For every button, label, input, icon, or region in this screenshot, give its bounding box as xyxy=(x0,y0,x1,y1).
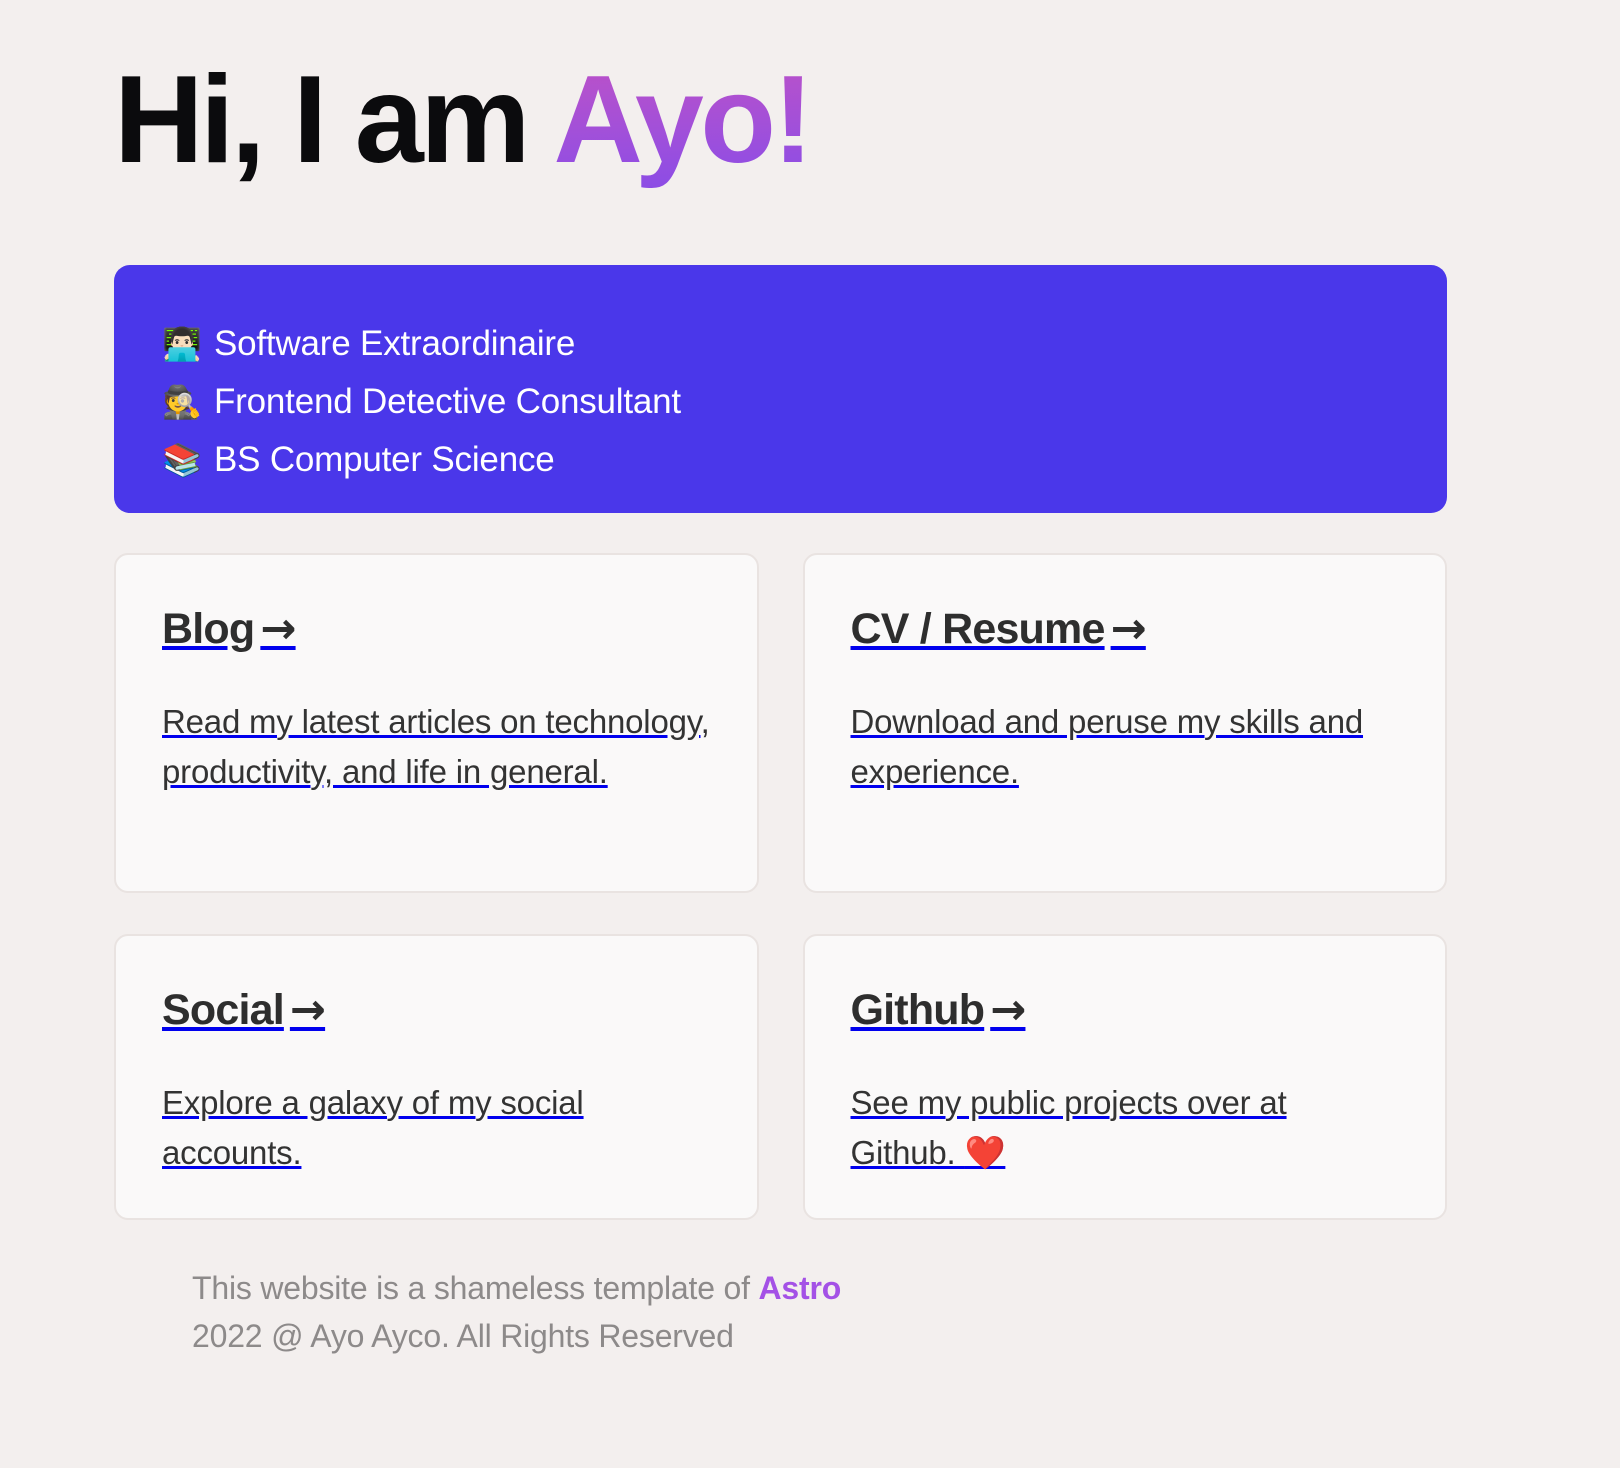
astro-link[interactable]: Astro xyxy=(758,1270,841,1306)
footer-credit-line: This website is a shameless template of … xyxy=(192,1264,1620,1312)
card-description: See my public projects over at Github. ❤… xyxy=(851,1078,1400,1178)
arrow-right-icon: → xyxy=(254,604,295,654)
arrow-right-icon: → xyxy=(284,985,325,1035)
list-item: 👨🏻‍💻 Software Extraordinaire xyxy=(162,315,1447,373)
card-title-label: CV / Resume xyxy=(851,605,1105,653)
card-title-label: Social xyxy=(162,986,284,1034)
list-item: 🕵️ Frontend Detective Consultant xyxy=(162,373,1447,431)
card-title-label: Blog xyxy=(162,605,254,653)
card-trailing-emoji: ❤️ xyxy=(964,1133,1005,1172)
intro-item-label: Software Extraordinaire xyxy=(214,315,575,373)
link-card-grid: Blog→ Read my latest articles on technol… xyxy=(114,553,1447,1219)
site-footer: This website is a shameless template of … xyxy=(192,1264,1620,1360)
arrow-right-icon: → xyxy=(984,985,1025,1035)
card-description-text: Download and peruse my skills and experi… xyxy=(851,703,1364,790)
hero-name-accent: Ayo! xyxy=(553,51,810,189)
books-icon: 📚 xyxy=(162,444,200,476)
card-description: Explore a galaxy of my social accounts. xyxy=(162,1078,711,1178)
card-blog[interactable]: Blog→ Read my latest articles on technol… xyxy=(114,553,759,893)
arrow-right-icon: → xyxy=(1105,604,1146,654)
hero-section: Hi, I am Ayo! xyxy=(0,0,1620,188)
intro-item-label: BS Computer Science xyxy=(214,431,555,489)
card-description-text: Explore a galaxy of my social accounts. xyxy=(162,1084,584,1171)
card-title: Github→ xyxy=(851,988,1400,1033)
intro-banner: 👨🏻‍💻 Software Extraordinaire 🕵️ Frontend… xyxy=(114,265,1447,513)
person-with-laptop-icon: 👨🏻‍💻 xyxy=(162,328,200,360)
card-title-label: Github xyxy=(851,986,985,1034)
card-description-text: See my public projects over at Github. xyxy=(851,1084,1287,1171)
card-github[interactable]: Github→ See my public projects over at G… xyxy=(803,934,1448,1219)
card-title: Blog→ xyxy=(162,607,711,652)
card-description-text: Read my latest articles on technology, p… xyxy=(162,703,710,790)
hero-greeting-text: Hi, I am xyxy=(114,51,553,189)
card-title: Social→ xyxy=(162,988,711,1033)
detective-icon: 🕵️ xyxy=(162,386,200,418)
card-title: CV / Resume→ xyxy=(851,607,1400,652)
card-description: Read my latest articles on technology, p… xyxy=(162,697,711,797)
footer-credit-text: This website is a shameless template of xyxy=(192,1270,758,1306)
page-title: Hi, I am Ayo! xyxy=(114,52,1620,188)
card-social[interactable]: Social→ Explore a galaxy of my social ac… xyxy=(114,934,759,1219)
card-description: Download and peruse my skills and experi… xyxy=(851,697,1400,797)
footer-copyright: 2022 @ Ayo Ayco. All Rights Reserved xyxy=(192,1312,1620,1360)
page-root: Hi, I am Ayo! 👨🏻‍💻 Software Extraordinai… xyxy=(0,0,1620,1468)
list-item: 📚 BS Computer Science xyxy=(162,431,1447,489)
intro-item-label: Frontend Detective Consultant xyxy=(214,373,681,431)
card-cv-resume[interactable]: CV / Resume→ Download and peruse my skil… xyxy=(803,553,1448,893)
intro-banner-list: 👨🏻‍💻 Software Extraordinaire 🕵️ Frontend… xyxy=(162,315,1447,489)
